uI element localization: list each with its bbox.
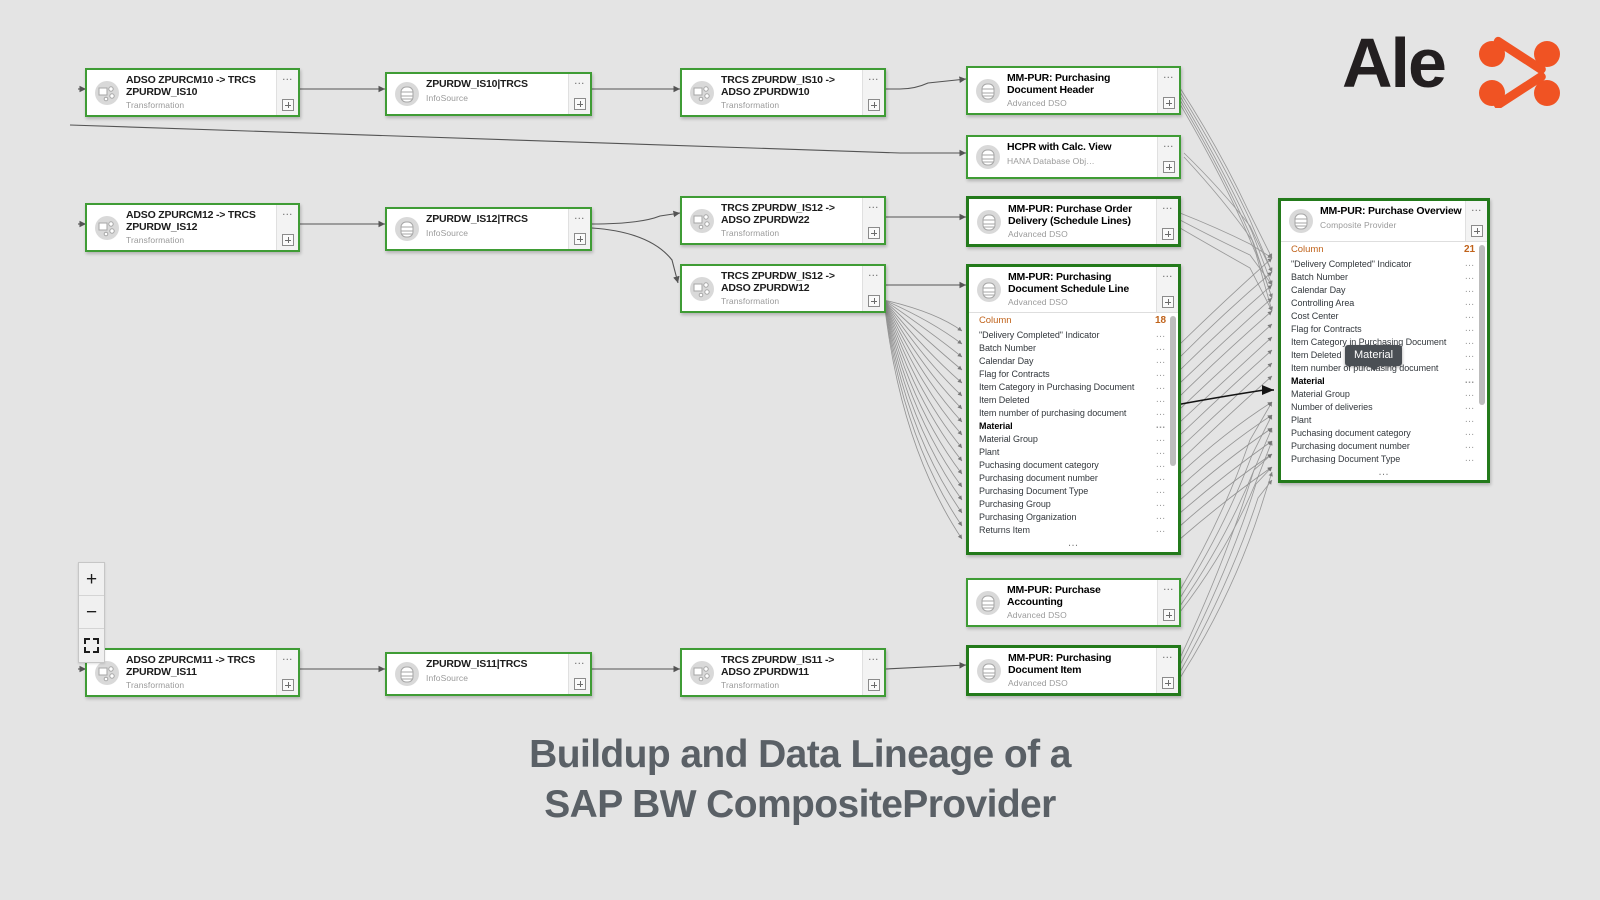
column-row-menu-icon[interactable]: …: [1465, 353, 1476, 357]
node-header[interactable]: MM-PUR: Purchase Accounting Advanced DSO…: [968, 580, 1179, 625]
node-text: MM-PUR: Purchase Accounting Advanced DSO: [1002, 580, 1157, 625]
node-title: TRCS ZPURDW_IS12 -> ADSO ZPURDW22: [721, 203, 860, 226]
node-actions[interactable]: …: [1156, 648, 1178, 693]
column-row-menu-icon[interactable]: …: [1465, 366, 1476, 370]
column-row-label: Puchasing document category: [1291, 428, 1411, 438]
column-row-menu-icon[interactable]: …: [1465, 418, 1476, 422]
node-subtitle: InfoSource: [426, 228, 566, 239]
column-row[interactable]: Flag for Contracts…: [1281, 322, 1487, 335]
node-transformation-cm10[interactable]: ADSO ZPURCM10 -> TRCS ZPURDW_IS10 Transf…: [85, 68, 300, 117]
expand-icon[interactable]: [1163, 609, 1175, 621]
column-header-label: Column: [1291, 244, 1323, 255]
column-row-label: Purchasing document number: [979, 473, 1098, 483]
column-row-label: "Delivery Completed" Indicator: [979, 330, 1099, 340]
node-composite-provider-purchase-overview[interactable]: MM-PUR: Purchase Overview Composite Prov…: [1278, 198, 1490, 483]
column-row-menu-icon[interactable]: …: [1465, 314, 1476, 318]
node-header[interactable]: TRCS ZPURDW_IS10 -> ADSO ZPURDW10 Transf…: [682, 70, 884, 115]
transformation-icon: [87, 205, 121, 250]
expand-icon[interactable]: [282, 99, 294, 111]
expand-icon[interactable]: [1162, 228, 1174, 240]
transformation-icon: [87, 70, 121, 115]
column-row[interactable]: Item number of purchasing document…: [969, 406, 1178, 419]
column-row-menu-icon[interactable]: …: [1465, 327, 1476, 331]
node-dso-purchasing-document-schedule-line[interactable]: MM-PUR: Purchasing Document Schedule Lin…: [966, 264, 1181, 555]
column-list-header: Column21: [1281, 242, 1487, 257]
node-header[interactable]: MM-PUR: Purchasing Document Header Advan…: [968, 68, 1179, 113]
column-row-label: Purchasing document number: [1291, 441, 1410, 451]
node-actions[interactable]: …: [568, 654, 590, 694]
node-subtitle: Advanced DSO: [1008, 678, 1154, 689]
node-hcpr-calc-view[interactable]: HCPR with Calc. View HANA Database Obj… …: [966, 135, 1181, 179]
node-subtitle: Transformation: [126, 100, 274, 111]
dso-icon: [968, 137, 1002, 177]
node-dso-purchasing-document-header[interactable]: MM-PUR: Purchasing Document Header Advan…: [966, 66, 1181, 115]
column-row-menu-icon[interactable]: …: [1465, 275, 1476, 279]
expand-icon[interactable]: [868, 227, 880, 239]
node-subtitle: Advanced DSO: [1007, 98, 1155, 109]
node-text: TRCS ZPURDW_IS12 -> ADSO ZPURDW22 Transf…: [716, 198, 862, 243]
column-row-menu-icon[interactable]: …: [1156, 398, 1167, 402]
node-header[interactable]: ADSO ZPURCM11 -> TRCS ZPURDW_IS11 Transf…: [87, 650, 298, 695]
column-row-menu-icon[interactable]: …: [1156, 502, 1167, 506]
column-row-label: Calendar Day: [1291, 285, 1345, 295]
node-actions[interactable]: …: [568, 209, 590, 249]
dso-icon: [969, 267, 1003, 312]
column-row-menu-icon[interactable]: …: [1465, 444, 1476, 448]
column-row[interactable]: Material…: [1281, 374, 1487, 387]
node-actions[interactable]: …: [1156, 267, 1178, 312]
column-row-menu-icon[interactable]: …: [1465, 288, 1476, 292]
column-row[interactable]: Cost Center…: [1281, 309, 1487, 322]
node-title: ADSO ZPURCM10 -> TRCS ZPURDW_IS10: [126, 75, 274, 98]
column-row[interactable]: Calendar Day…: [1281, 283, 1487, 296]
node-subtitle: InfoSource: [426, 93, 566, 104]
expand-icon[interactable]: [574, 233, 586, 245]
node-header[interactable]: MM-PUR: Purchase Order Delivery (Schedul…: [969, 199, 1178, 244]
node-header[interactable]: TRCS ZPURDW_IS12 -> ADSO ZPURDW22 Transf…: [682, 198, 884, 243]
transformation-icon: [682, 650, 716, 695]
column-row-menu-icon[interactable]: …: [1465, 431, 1476, 435]
node-header[interactable]: ZPURDW_IS10|TRCS InfoSource …: [387, 74, 590, 114]
node-actions[interactable]: …: [862, 198, 884, 243]
node-menu-icon[interactable]: …: [1162, 270, 1174, 278]
infosource-icon: [387, 654, 421, 694]
node-actions[interactable]: …: [276, 650, 298, 695]
dso-icon: [968, 68, 1002, 113]
fit-to-screen-button[interactable]: [79, 629, 104, 662]
caption-line-1: Buildup and Data Lineage of a: [0, 730, 1600, 780]
node-subtitle: Advanced DSO: [1008, 229, 1154, 240]
expand-icon[interactable]: [1163, 161, 1175, 173]
transformation-icon: [682, 70, 716, 115]
node-actions[interactable]: …: [1156, 199, 1178, 244]
column-row-menu-icon[interactable]: …: [1156, 372, 1167, 376]
column-row[interactable]: Puchasing document category…: [1281, 426, 1487, 439]
tooltip-material: Material: [1345, 345, 1402, 366]
caption-line-2: SAP BW CompositeProvider: [0, 780, 1600, 830]
node-header[interactable]: ADSO ZPURCM10 -> TRCS ZPURDW_IS10 Transf…: [87, 70, 298, 115]
node-text: MM-PUR: Purchasing Document Item Advance…: [1003, 648, 1156, 693]
column-row[interactable]: Purchasing Organization…: [969, 510, 1178, 523]
column-row-menu-icon[interactable]: …: [1156, 528, 1167, 532]
node-subtitle: Transformation: [721, 680, 860, 691]
column-row[interactable]: Purchasing document number…: [1281, 439, 1487, 452]
node-text: HCPR with Calc. View HANA Database Obj…: [1002, 137, 1157, 177]
node-text: ADSO ZPURCM12 -> TRCS ZPURDW_IS12 Transf…: [121, 205, 276, 250]
node-text: ADSO ZPURCM10 -> TRCS ZPURDW_IS10 Transf…: [121, 70, 276, 115]
node-subtitle: Transformation: [721, 296, 860, 307]
node-text: ADSO ZPURCM11 -> TRCS ZPURDW_IS11 Transf…: [121, 650, 276, 695]
node-title: MM-PUR: Purchasing Document Header: [1007, 73, 1155, 96]
column-row-menu-icon[interactable]: …: [1156, 489, 1167, 493]
transformation-icon: [682, 266, 716, 311]
node-transformation-is11[interactable]: TRCS ZPURDW_IS11 -> ADSO ZPURDW11 Transf…: [680, 648, 886, 697]
node-header[interactable]: ZPURDW_IS11|TRCS InfoSource …: [387, 654, 590, 694]
node-dso-purchasing-document-item[interactable]: MM-PUR: Purchasing Document Item Advance…: [966, 645, 1181, 696]
column-row-label: Material: [979, 421, 1013, 431]
node-menu-icon[interactable]: …: [1471, 204, 1483, 212]
column-row-label: Purchasing Document Type: [1291, 454, 1400, 464]
node-subtitle: Transformation: [126, 680, 274, 691]
column-row[interactable]: Material Group…: [969, 432, 1178, 445]
infosource-icon: [387, 74, 421, 114]
node-menu-icon[interactable]: …: [282, 208, 294, 216]
column-row[interactable]: Material…: [969, 419, 1178, 432]
expand-icon[interactable]: [282, 234, 294, 246]
column-row-label: Controlling Area: [1291, 298, 1354, 308]
node-header[interactable]: ZPURDW_IS12|TRCS InfoSource …: [387, 209, 590, 249]
zoom-control[interactable]: + −: [78, 562, 105, 663]
node-text: ZPURDW_IS11|TRCS InfoSource: [421, 654, 568, 694]
node-actions[interactable]: …: [276, 70, 298, 115]
column-row-label: Flag for Contracts: [979, 369, 1050, 379]
column-row[interactable]: Puchasing document category…: [969, 458, 1178, 471]
fit-to-screen-icon: [84, 638, 99, 653]
infosource-icon: [387, 209, 421, 249]
column-row[interactable]: Purchasing document number…: [969, 471, 1178, 484]
node-text: TRCS ZPURDW_IS11 -> ADSO ZPURDW11 Transf…: [716, 650, 862, 695]
column-row[interactable]: "Delivery Completed" Indicator…: [969, 328, 1178, 341]
column-row[interactable]: Controlling Area…: [1281, 296, 1487, 309]
column-row-label: Item Deleted: [979, 395, 1029, 405]
column-row-label: Puchasing document category: [979, 460, 1099, 470]
column-row-label: Item number of purchasing document: [979, 408, 1126, 418]
expand-icon[interactable]: [1163, 97, 1175, 109]
node-actions[interactable]: …: [1465, 201, 1487, 241]
expand-icon[interactable]: [868, 679, 880, 691]
expand-icon[interactable]: [282, 679, 294, 691]
expand-icon[interactable]: [574, 98, 586, 110]
column-row[interactable]: Purchasing Document Type…: [969, 484, 1178, 497]
node-subtitle: Composite Provider: [1320, 220, 1463, 231]
node-infosource-is11[interactable]: ZPURDW_IS11|TRCS InfoSource …: [385, 652, 592, 696]
node-menu-icon[interactable]: …: [868, 73, 880, 81]
expand-icon[interactable]: [1162, 677, 1174, 689]
node-menu-icon[interactable]: …: [868, 269, 880, 277]
node-title: ZPURDW_IS11|TRCS: [426, 659, 566, 671]
node-title: MM-PUR: Purchase Order Delivery (Schedul…: [1008, 204, 1154, 227]
column-row[interactable]: "Delivery Completed" Indicator…: [1281, 257, 1487, 270]
expand-icon[interactable]: [868, 99, 880, 111]
node-title: TRCS ZPURDW_IS11 -> ADSO ZPURDW11: [721, 655, 860, 678]
node-title: ZPURDW_IS12|TRCS: [426, 214, 566, 226]
column-row-label: Item Deleted: [1291, 350, 1341, 360]
node-subtitle: Advanced DSO: [1007, 610, 1155, 621]
node-menu-icon[interactable]: …: [574, 77, 586, 85]
node-title: MM-PUR: Purchase Accounting: [1007, 585, 1155, 608]
column-row-label: Purchasing Organization: [979, 512, 1076, 522]
column-row[interactable]: Item Category in Purchasing Document…: [969, 380, 1178, 393]
column-list-more-icon[interactable]: …: [969, 536, 1178, 547]
list-scrollbar[interactable]: [1170, 316, 1176, 466]
dso-icon: [969, 648, 1003, 693]
node-menu-icon[interactable]: …: [868, 653, 880, 661]
alex-logo: Ale: [1340, 24, 1572, 108]
column-row-menu-icon[interactable]: …: [1156, 424, 1167, 428]
column-row-label: Returns Item: [979, 525, 1030, 535]
node-menu-icon[interactable]: …: [1163, 71, 1175, 79]
column-list-more-icon[interactable]: …: [1281, 465, 1487, 476]
node-title: ZPURDW_IS10|TRCS: [426, 79, 566, 91]
column-row-menu-icon[interactable]: …: [1156, 385, 1167, 389]
node-transformation-cm12[interactable]: ADSO ZPURCM12 -> TRCS ZPURDW_IS12 Transf…: [85, 203, 300, 252]
node-transformation-is12-22[interactable]: TRCS ZPURDW_IS12 -> ADSO ZPURDW22 Transf…: [680, 196, 886, 245]
node-actions[interactable]: …: [276, 205, 298, 250]
column-row-menu-icon[interactable]: …: [1465, 392, 1476, 396]
node-text: MM-PUR: Purchasing Document Schedule Lin…: [1003, 267, 1156, 312]
column-row-menu-icon[interactable]: …: [1465, 405, 1476, 409]
node-subtitle: Transformation: [126, 235, 274, 246]
node-header[interactable]: MM-PUR: Purchase Overview Composite Prov…: [1281, 201, 1487, 241]
node-header[interactable]: MM-PUR: Purchasing Document Schedule Lin…: [969, 267, 1178, 312]
column-row[interactable]: Purchasing Document Type…: [1281, 452, 1487, 465]
column-row[interactable]: Calendar Day…: [969, 354, 1178, 367]
node-actions[interactable]: …: [1157, 137, 1179, 177]
column-row-menu-icon[interactable]: …: [1156, 359, 1167, 363]
node-actions[interactable]: …: [862, 650, 884, 695]
node-header[interactable]: TRCS ZPURDW_IS12 -> ADSO ZPURDW12 Transf…: [682, 266, 884, 311]
column-row-label: Batch Number: [979, 343, 1036, 353]
column-row-menu-icon[interactable]: …: [1465, 301, 1476, 305]
list-scrollbar[interactable]: [1479, 245, 1485, 405]
column-header-label: Column: [979, 315, 1011, 326]
column-row-label: Material Group: [979, 434, 1038, 444]
column-row[interactable]: Number of deliveries…: [1281, 400, 1487, 413]
column-row-label: Purchasing Group: [979, 499, 1051, 509]
column-row-menu-icon[interactable]: …: [1156, 515, 1167, 519]
zoom-in-button[interactable]: +: [79, 563, 104, 596]
node-menu-icon[interactable]: …: [282, 73, 294, 81]
expand-icon[interactable]: [574, 678, 586, 690]
column-row-menu-icon[interactable]: …: [1156, 476, 1167, 480]
node-transformation-is10[interactable]: TRCS ZPURDW_IS10 -> ADSO ZPURDW10 Transf…: [680, 68, 886, 117]
node-menu-icon[interactable]: …: [1162, 202, 1174, 210]
node-actions[interactable]: …: [862, 266, 884, 311]
column-row-label: Item Category in Purchasing Document: [979, 382, 1134, 392]
node-menu-icon[interactable]: …: [282, 653, 294, 661]
node-text: MM-PUR: Purchase Order Delivery (Schedul…: [1003, 199, 1156, 244]
node-actions[interactable]: …: [1157, 580, 1179, 625]
column-row-label: Flag for Contracts: [1291, 324, 1362, 334]
column-row-label: Cost Center: [1291, 311, 1338, 321]
column-row-menu-icon[interactable]: …: [1156, 437, 1167, 441]
node-dso-purchase-order-delivery[interactable]: MM-PUR: Purchase Order Delivery (Schedul…: [966, 196, 1181, 247]
column-row-label: Calendar Day: [979, 356, 1033, 366]
node-title: TRCS ZPURDW_IS10 -> ADSO ZPURDW10: [721, 75, 860, 98]
node-actions[interactable]: …: [862, 70, 884, 115]
column-count: 18: [1155, 315, 1166, 326]
lineage-canvas[interactable]: ADSO ZPURCM10 -> TRCS ZPURDW_IS10 Transf…: [0, 0, 1600, 900]
page-caption: Buildup and Data Lineage of a SAP BW Com…: [0, 730, 1600, 830]
node-text: ZPURDW_IS12|TRCS InfoSource: [421, 209, 568, 249]
node-subtitle: Transformation: [721, 100, 860, 111]
column-row[interactable]: Plant…: [969, 445, 1178, 458]
node-menu-icon[interactable]: …: [1163, 140, 1175, 148]
node-transformation-is12-12[interactable]: TRCS ZPURDW_IS12 -> ADSO ZPURDW12 Transf…: [680, 264, 886, 313]
node-text: MM-PUR: Purchase Overview Composite Prov…: [1315, 201, 1465, 241]
node-title: MM-PUR: Purchase Overview: [1320, 206, 1463, 218]
node-header[interactable]: ADSO ZPURCM12 -> TRCS ZPURDW_IS12 Transf…: [87, 205, 298, 250]
node-menu-icon[interactable]: …: [1163, 583, 1175, 591]
column-row[interactable]: Material Group…: [1281, 387, 1487, 400]
node-subtitle: HANA Database Obj…: [1007, 156, 1155, 167]
node-text: TRCS ZPURDW_IS12 -> ADSO ZPURDW12 Transf…: [716, 266, 862, 311]
zoom-out-button[interactable]: −: [79, 596, 104, 629]
node-title: ADSO ZPURCM12 -> TRCS ZPURDW_IS12: [126, 210, 274, 233]
node-text: TRCS ZPURDW_IS10 -> ADSO ZPURDW10 Transf…: [716, 70, 862, 115]
node-header[interactable]: TRCS ZPURDW_IS11 -> ADSO ZPURDW11 Transf…: [682, 650, 884, 695]
node-infosource-is10[interactable]: ZPURDW_IS10|TRCS InfoSource …: [385, 72, 592, 116]
collapse-icon[interactable]: [1162, 296, 1174, 308]
node-transformation-cm11[interactable]: ADSO ZPURCM11 -> TRCS ZPURDW_IS11 Transf…: [85, 648, 300, 697]
node-menu-icon[interactable]: …: [574, 212, 586, 220]
node-title: MM-PUR: Purchasing Document Item: [1008, 653, 1154, 676]
node-infosource-is12[interactable]: ZPURDW_IS12|TRCS InfoSource …: [385, 207, 592, 251]
column-row-label: Plant: [1291, 415, 1311, 425]
column-row-menu-icon[interactable]: …: [1156, 346, 1167, 350]
node-menu-icon[interactable]: …: [574, 657, 586, 665]
column-row[interactable]: Returns Item…: [969, 523, 1178, 536]
column-row-menu-icon[interactable]: …: [1156, 450, 1167, 454]
node-subtitle: Transformation: [721, 228, 860, 239]
column-row-label: Material: [1291, 376, 1325, 386]
node-text: MM-PUR: Purchasing Document Header Advan…: [1002, 68, 1157, 113]
dso-icon: [968, 580, 1002, 625]
column-list-header: Column18: [969, 313, 1178, 328]
column-row-label: Purchasing Document Type: [979, 486, 1088, 496]
node-header[interactable]: HCPR with Calc. View HANA Database Obj… …: [968, 137, 1179, 177]
column-count: 21: [1464, 244, 1475, 255]
node-title: HCPR with Calc. View: [1007, 142, 1155, 154]
column-row-menu-icon[interactable]: …: [1156, 463, 1167, 467]
node-title: MM-PUR: Purchasing Document Schedule Lin…: [1008, 272, 1154, 295]
node-header[interactable]: MM-PUR: Purchasing Document Item Advance…: [969, 648, 1178, 693]
column-row[interactable]: Batch Number…: [969, 341, 1178, 354]
transformation-icon: [682, 198, 716, 243]
collapse-icon[interactable]: [1471, 225, 1483, 237]
expand-icon[interactable]: [868, 295, 880, 307]
column-row-label: Number of deliveries: [1291, 402, 1373, 412]
node-menu-icon[interactable]: …: [1162, 651, 1174, 659]
node-subtitle: Advanced DSO: [1008, 297, 1154, 308]
column-row[interactable]: Flag for Contracts…: [969, 367, 1178, 380]
column-row-menu-icon[interactable]: …: [1156, 333, 1167, 337]
column-row-menu-icon[interactable]: …: [1465, 379, 1476, 383]
column-row-label: Plant: [979, 447, 999, 457]
column-row[interactable]: Item Deleted…: [969, 393, 1178, 406]
column-row[interactable]: Purchasing Group…: [969, 497, 1178, 510]
node-text: ZPURDW_IS10|TRCS InfoSource: [421, 74, 568, 114]
node-actions[interactable]: …: [568, 74, 590, 114]
column-row-label: Material Group: [1291, 389, 1350, 399]
column-row-label: "Delivery Completed" Indicator: [1291, 259, 1411, 269]
column-row-menu-icon[interactable]: …: [1156, 411, 1167, 415]
column-list-schedule-line[interactable]: Column18"Delivery Completed" Indicator…B…: [969, 312, 1178, 552]
node-menu-icon[interactable]: …: [868, 201, 880, 209]
column-row[interactable]: Plant…: [1281, 413, 1487, 426]
node-actions[interactable]: …: [1157, 68, 1179, 113]
column-row-menu-icon[interactable]: …: [1465, 457, 1476, 461]
column-row[interactable]: Batch Number…: [1281, 270, 1487, 283]
node-dso-purchase-accounting[interactable]: MM-PUR: Purchase Accounting Advanced DSO…: [966, 578, 1181, 627]
column-row-label: Batch Number: [1291, 272, 1348, 282]
node-title: ADSO ZPURCM11 -> TRCS ZPURDW_IS11: [126, 655, 274, 678]
node-title: TRCS ZPURDW_IS12 -> ADSO ZPURDW12: [721, 271, 860, 294]
column-row-menu-icon[interactable]: …: [1465, 262, 1476, 266]
dso-icon: [969, 199, 1003, 244]
column-row-menu-icon[interactable]: …: [1465, 340, 1476, 344]
dso-icon: [1281, 201, 1315, 241]
svg-text:Ale: Ale: [1342, 24, 1445, 102]
node-subtitle: InfoSource: [426, 673, 566, 684]
